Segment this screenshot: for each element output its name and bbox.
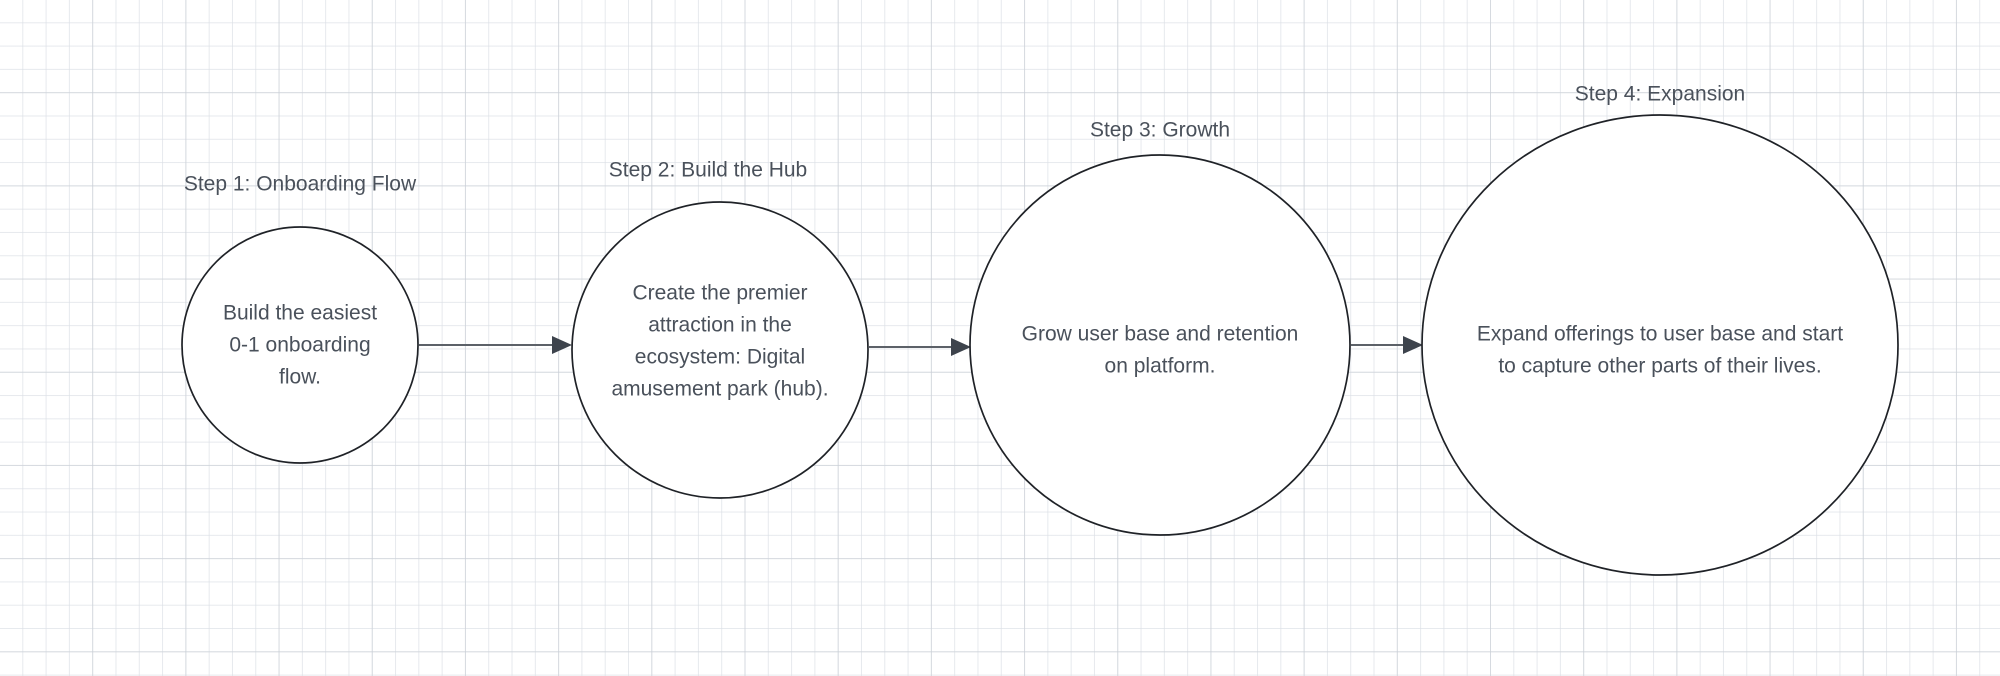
node-body-step-1: flow. (279, 366, 321, 389)
edge-step1-to-step2[interactable] (419, 336, 572, 354)
node-step-2[interactable]: Step 2: Build the Hub Create the premier… (572, 159, 868, 498)
diagram-canvas: Step 1: Onboarding Flow Build the easies… (0, 0, 2000, 676)
node-step-3[interactable]: Step 3: Growth Grow user base and retent… (970, 119, 1350, 535)
node-label-step-2: Step 2: Build the Hub (609, 159, 807, 182)
node-body-step-2: amusement park (hub). (611, 378, 828, 401)
arrowhead-icon (951, 338, 971, 356)
node-body-step-2: attraction in the (648, 314, 792, 337)
node-body-step-1: Build the easiest (223, 302, 377, 325)
arrowhead-icon (552, 336, 572, 354)
node-body-step-2: ecosystem: Digital (635, 346, 805, 369)
node-body-step-3: Grow user base and retention (1022, 323, 1299, 346)
arrowhead-icon (1403, 336, 1423, 354)
node-step-4[interactable]: Step 4: Expansion Expand offerings to us… (1422, 83, 1898, 575)
node-body-step-3: on platform. (1105, 355, 1216, 378)
node-body-step-4: to capture other parts of their lives. (1498, 355, 1821, 378)
flowchart-svg: Step 1: Onboarding Flow Build the easies… (0, 0, 2000, 676)
node-step-1[interactable]: Step 1: Onboarding Flow Build the easies… (182, 173, 418, 463)
node-label-step-4: Step 4: Expansion (1575, 83, 1745, 106)
node-body-step-2: Create the premier (632, 282, 807, 305)
node-body-step-1: 0-1 onboarding (229, 334, 370, 357)
node-body-step-4: Expand offerings to user base and start (1477, 323, 1843, 346)
edge-step2-to-step3[interactable] (869, 338, 971, 356)
edge-step3-to-step4[interactable] (1351, 336, 1423, 354)
node-label-step-1: Step 1: Onboarding Flow (184, 173, 417, 196)
node-label-step-3: Step 3: Growth (1090, 119, 1230, 142)
